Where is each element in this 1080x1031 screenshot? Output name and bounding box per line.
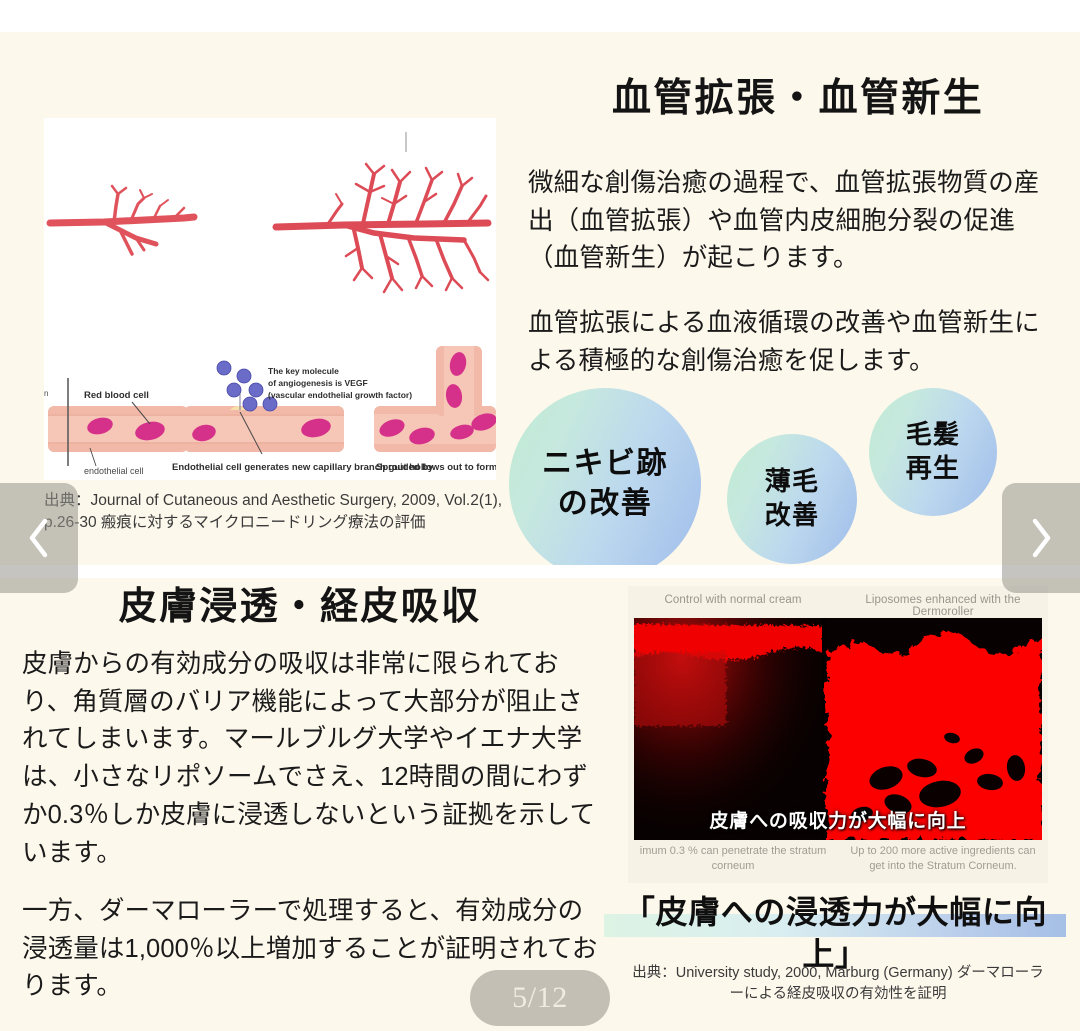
slide-panel-vasodilation: n Red blood cell endothelial cell	[0, 32, 1080, 565]
angiogenesis-svg: n Red blood cell endothelial cell	[44, 118, 496, 480]
previous-slide-button[interactable]	[0, 483, 78, 593]
micrograph-image: 皮膚への吸収力が大幅に向上	[634, 618, 1042, 840]
svg-text:Sprout hollows out to form: Sprout hollows out to form	[376, 462, 496, 473]
benefit-bubble-thinning-hair: 薄毛 改善	[727, 434, 857, 564]
micrograph-footer: imum 0.3 % can penetrate the stratum cor…	[628, 844, 1048, 874]
chevron-left-icon	[24, 515, 54, 561]
chevron-right-icon	[1026, 515, 1056, 561]
micrograph-overlay-text: 皮膚への吸収力が大幅に向上	[634, 806, 1042, 833]
svg-text:of angiogenesis is VEGF: of angiogenesis is VEGF	[268, 378, 368, 388]
benefit-bubble-hair-regrowth: 毛髪 再生	[869, 388, 997, 516]
slide-panel-skin-penetration: 皮膚浸透・経皮吸収 皮膚からの有効成分の吸収は非常に限られており、角質層のバリア…	[0, 578, 1080, 1031]
section-title-vasodilation: 血管拡張・血管新生	[528, 76, 1068, 123]
next-slide-button[interactable]	[1002, 483, 1080, 593]
body-paragraph-3: 皮膚からの有効成分の吸収は非常に限られており、角質層のバリア機能によって大部分が…	[22, 646, 602, 872]
page-indicator: 5/12	[470, 970, 610, 1026]
source-caption-top: 出典：Journal of Cutaneous and Aesthetic Su…	[44, 490, 514, 535]
micrograph-label-control: Control with normal cream	[628, 594, 838, 614]
micrograph-figure: Control with normal cream Liposomes enha…	[628, 586, 1048, 883]
micrograph-footnote-dermoroller: Up to 200 more active ingredients can ge…	[838, 844, 1048, 874]
quote-callout: 「皮膚への浸透力が大幅に向上」	[604, 891, 1066, 941]
svg-text:The key molecule: The key molecule	[268, 366, 339, 376]
micrograph-label-dermoroller: Liposomes enhanced with the Dermoroller	[838, 594, 1048, 614]
source-caption-bottom: 出典：University study, 2000, Marburg (Germ…	[628, 963, 1048, 1004]
svg-text:n: n	[44, 389, 48, 398]
svg-text:(vascular endothelial growth f: (vascular endothelial growth factor)	[268, 390, 412, 400]
slideshow-viewer: n Red blood cell endothelial cell	[0, 0, 1080, 1031]
section-title-skin-penetration: 皮膚浸透・経皮吸収	[20, 585, 580, 631]
angiogenesis-illustration: n Red blood cell endothelial cell	[44, 118, 496, 480]
micrograph-header: Control with normal cream Liposomes enha…	[628, 594, 1048, 614]
body-paragraph-1: 微細な創傷治癒の過程で、血管拡張物質の産出（血管拡張）や血管内皮細胞分裂の促進（…	[528, 165, 1056, 278]
svg-text:Red blood cell: Red blood cell	[84, 390, 149, 401]
benefit-bubble-acne-scars: ニキビ跡 の改善	[509, 388, 701, 565]
micrograph-footnote-control: imum 0.3 % can penetrate the stratum cor…	[628, 844, 838, 874]
body-paragraph-2: 血管拡張による血液循環の改善や血管新生による積極的な創傷治癒を促します。	[528, 305, 1056, 380]
svg-text:endothelial cell: endothelial cell	[84, 466, 144, 476]
